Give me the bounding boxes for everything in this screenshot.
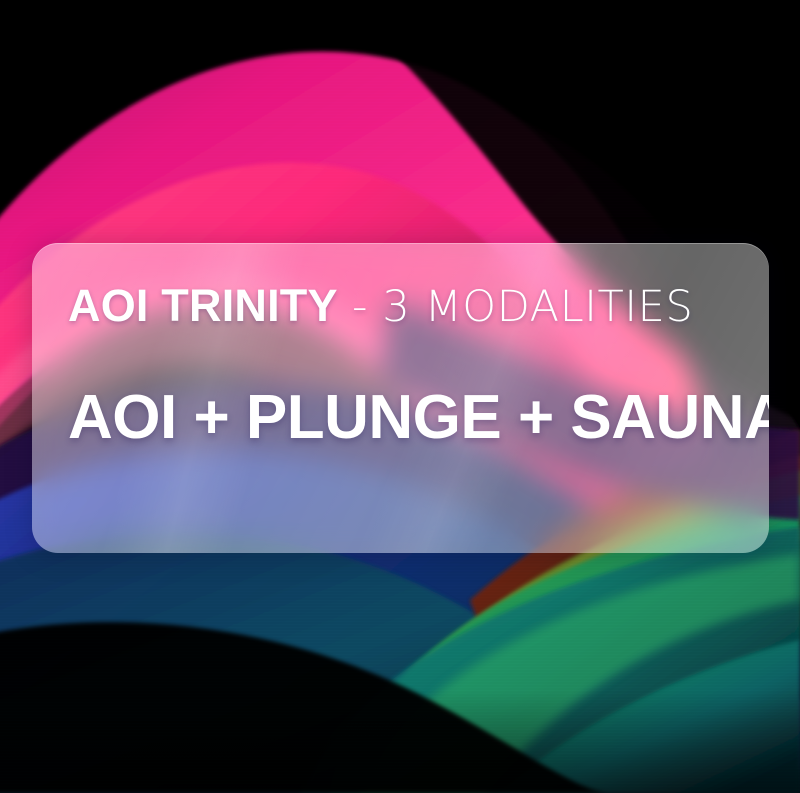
headline-primary-strong: AOI TRINITY xyxy=(68,280,338,331)
card-content: AOI TRINITY - 3 MODALITIES AOI + PLUNGE … xyxy=(32,243,769,553)
headline-primary-light: - 3 MODALITIES xyxy=(338,282,694,332)
promo-canvas: AOI TRINITY - 3 MODALITIES AOI + PLUNGE … xyxy=(0,0,800,793)
headline-primary: AOI TRINITY - 3 MODALITIES xyxy=(68,283,733,329)
glass-overlay-card: AOI TRINITY - 3 MODALITIES AOI + PLUNGE … xyxy=(32,243,769,553)
vignette-bottom xyxy=(0,690,800,793)
headline-secondary: AOI + PLUNGE + SAUNA xyxy=(68,387,733,449)
